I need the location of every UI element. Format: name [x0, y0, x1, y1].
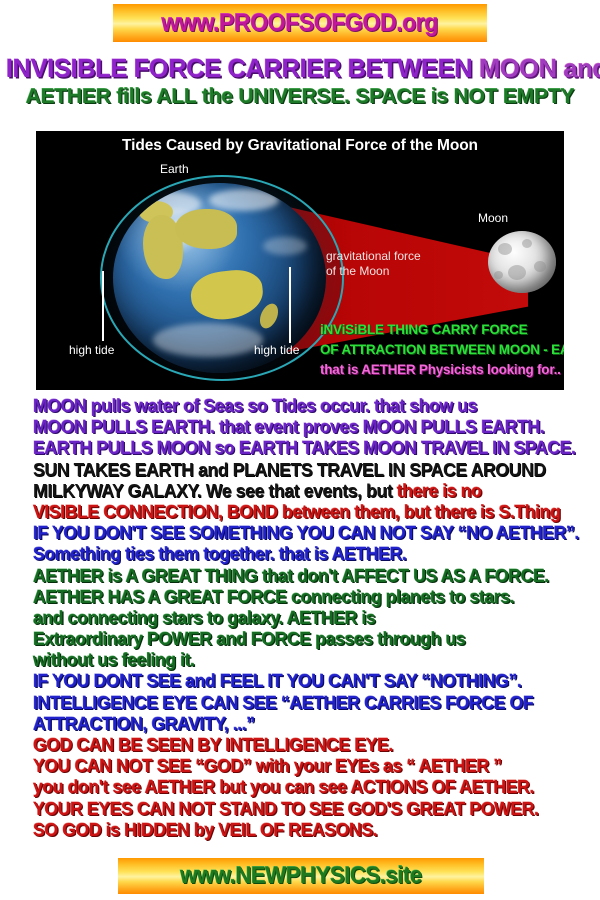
gravitational-force-label-line-1: gravitational force	[326, 249, 421, 264]
moon-label: Moon	[478, 211, 508, 225]
moon-crater	[494, 271, 503, 279]
body-line: INTELLIGENCE EYE CAN SEE “AETHER CARRIES…	[33, 693, 599, 714]
landmass-australia	[189, 267, 266, 322]
page-title-line-2: AETHER fills ALL the UNIVERSE. SPACE is …	[0, 85, 600, 109]
moon-crater	[508, 265, 526, 280]
body-line: MOON PULLS EARTH. that event proves MOON…	[33, 417, 599, 438]
body-line: MILKYWAY GALAXY. We see that events, but…	[33, 481, 599, 502]
moon-crater	[498, 243, 512, 255]
overlay-line-1: iNViSiBLE THING CARRY FORCE	[320, 319, 564, 339]
page-title-part-1: INVISIBLE FORCE CARRIER BETWEEN	[6, 53, 479, 83]
body-line: AETHER HAS A GREAT FORCE connecting plan…	[33, 587, 599, 608]
body-line: VISIBLE CONNECTION, BOND between them, b…	[33, 502, 599, 523]
body-line: SO GOD is HIDDEN by VEIL OF REASONS.	[33, 820, 599, 841]
body-line: and connecting stars to galaxy. AETHER i…	[33, 608, 599, 629]
cloud-shape	[209, 189, 279, 211]
aether-overlay-message: iNViSiBLE THING CARRY FORCE OF ATTRACTIO…	[320, 319, 564, 379]
top-site-banner[interactable]: www.PROOFSOFGOD.org	[113, 4, 487, 42]
tide-marker-line-right	[289, 267, 291, 343]
moon-sphere	[488, 231, 556, 293]
tides-diagram: Tides Caused by Gravitational Force of t…	[36, 131, 564, 390]
earth-label: Earth	[160, 162, 189, 176]
landmass-new-zealand	[256, 301, 281, 331]
landmass-asia	[175, 209, 237, 249]
body-line: IF YOU DONT SEE and FEEL IT YOU CAN'T SA…	[33, 671, 599, 692]
gravitational-force-label: gravitational force of the Moon	[326, 249, 421, 279]
body-text-block: MOON pulls water of Seas so Tides occur.…	[33, 396, 600, 841]
body-line: ATTRACTION, GRAVITY, ...”	[33, 714, 599, 735]
moon-crater	[522, 239, 532, 248]
body-line: SUN TAKES EARTH and PLANETS TRAVEL IN SP…	[33, 460, 599, 481]
top-banner-text: www.PROOFSOFGOD.org	[162, 9, 439, 38]
body-line: Extraordinary POWER and FORCE passes thr…	[33, 629, 599, 650]
page-title-part-2: MOON and EARTH	[479, 53, 600, 83]
cloud-shape	[263, 237, 307, 255]
body-line-emphasis: there is no	[397, 481, 482, 501]
body-line: you don't see AETHER but you can see ACT…	[33, 777, 599, 798]
tide-marker-line-left	[102, 271, 104, 341]
body-line: IF YOU DON'T SEE SOMETHING YOU CAN NOT S…	[33, 523, 599, 544]
bottom-banner-text: www.NEWPHYSICS.site	[180, 862, 422, 890]
overlay-line-2: OF ATTRACTION BETWEEN MOON - EARTH	[320, 339, 564, 359]
body-line: Something ties them together. that is AE…	[33, 544, 599, 565]
gravitational-force-label-line-2: of the Moon	[326, 264, 421, 279]
high-tide-label-right: high tide	[254, 343, 299, 357]
bottom-site-banner[interactable]: www.NEWPHYSICS.site	[118, 858, 484, 894]
high-tide-label-left: high tide	[69, 343, 114, 357]
body-line: AETHER is A GREAT THING that don't AFFEC…	[33, 566, 599, 587]
body-line: MOON pulls water of Seas so Tides occur.…	[33, 396, 599, 417]
body-line: without us feeling it.	[33, 650, 599, 671]
body-line: YOU CAN NOT SEE “GOD” with your EYEs as …	[33, 756, 599, 777]
body-line: GOD CAN BE SEEN BY INTELLIGENCE EYE.	[33, 735, 599, 756]
body-line: YOUR EYES CAN NOT STAND TO SEE GOD'S GRE…	[33, 799, 599, 820]
page-title-line-1: INVISIBLE FORCE CARRIER BETWEEN MOON and…	[6, 53, 594, 84]
overlay-line-3: that is AETHER Physicists looking for..	[320, 359, 564, 379]
diagram-title: Tides Caused by Gravitational Force of t…	[36, 137, 564, 155]
moon-crater	[534, 261, 546, 272]
cloud-shape	[153, 323, 263, 357]
body-line: EARTH PULLS MOON so EARTH TAKES MOON TRA…	[33, 438, 599, 459]
